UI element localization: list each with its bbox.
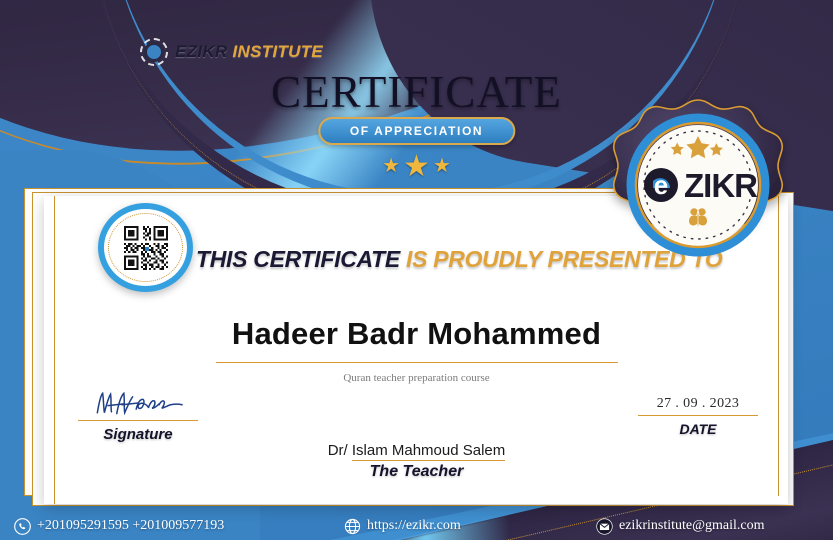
footer-bar: +201095291595 +201009577193 https://ezik… [0,512,833,540]
date-label: DATE [638,421,758,437]
presented-dark-text: THIS CERTIFICATE [196,246,400,272]
date-block: 27 . 09 . 2023 DATE [638,396,758,437]
brand-name-gold: INSTITUTE [228,42,324,61]
teacher-prefix: Dr/ [328,442,352,459]
seal-badge: e ZIKR [598,96,798,274]
envelope-icon [596,518,613,535]
whatsapp-icon [14,518,31,535]
teacher-name: Islam Mahmoud Salem [352,442,505,461]
footer-email[interactable]: ezikrinstitute@gmail.com [596,518,764,535]
recipient-name: Hadeer Badr Mohammed [0,316,833,352]
handwritten-signature-icon [85,388,191,418]
seal-logo: e ZIKR [644,167,758,204]
globe-icon [344,518,361,535]
star-icon: ★ [403,150,430,183]
brand-lockup: EZIKR INSTITUTE [140,38,323,66]
certificate-canvas: EZIKR INSTITUTE CERTIFICATE OF APPRECIAT… [0,0,833,540]
brand-name: EZIKR INSTITUTE [175,42,323,62]
qr-dotted-ring [108,213,183,282]
footer-website[interactable]: https://ezikr.com [344,518,461,535]
footer-email-text: ezikrinstitute@gmail.com [619,518,764,534]
teacher-role: The Teacher [0,463,833,481]
signature-underline [78,420,198,421]
qr-code-badge[interactable] [98,203,193,292]
seal-logo-e: e [654,170,668,200]
signature-block: Signature [78,388,198,443]
date-value: 27 . 09 . 2023 [638,396,758,412]
date-underline [638,415,758,416]
ring-logo-icon [140,38,168,66]
seal-logo-text: ZIKR [684,167,758,204]
brand-name-dark: EZIKR [175,42,228,61]
teacher-name-line: Dr/ Islam Mahmoud Salem [0,442,833,459]
subtitle-badge: OF APPRECIATION [318,117,515,145]
footer-website-text: https://ezikr.com [367,518,461,534]
star-icon: ★ [382,155,400,177]
recipient-underline [216,362,618,363]
footer-phone-text: +201095291595 +201009577193 [37,518,224,534]
course-name: Quran teacher preparation course [0,372,833,384]
footer-phone[interactable]: +201095291595 +201009577193 [14,518,224,535]
signature-label: Signature [78,426,198,443]
star-icon: ★ [433,155,451,177]
